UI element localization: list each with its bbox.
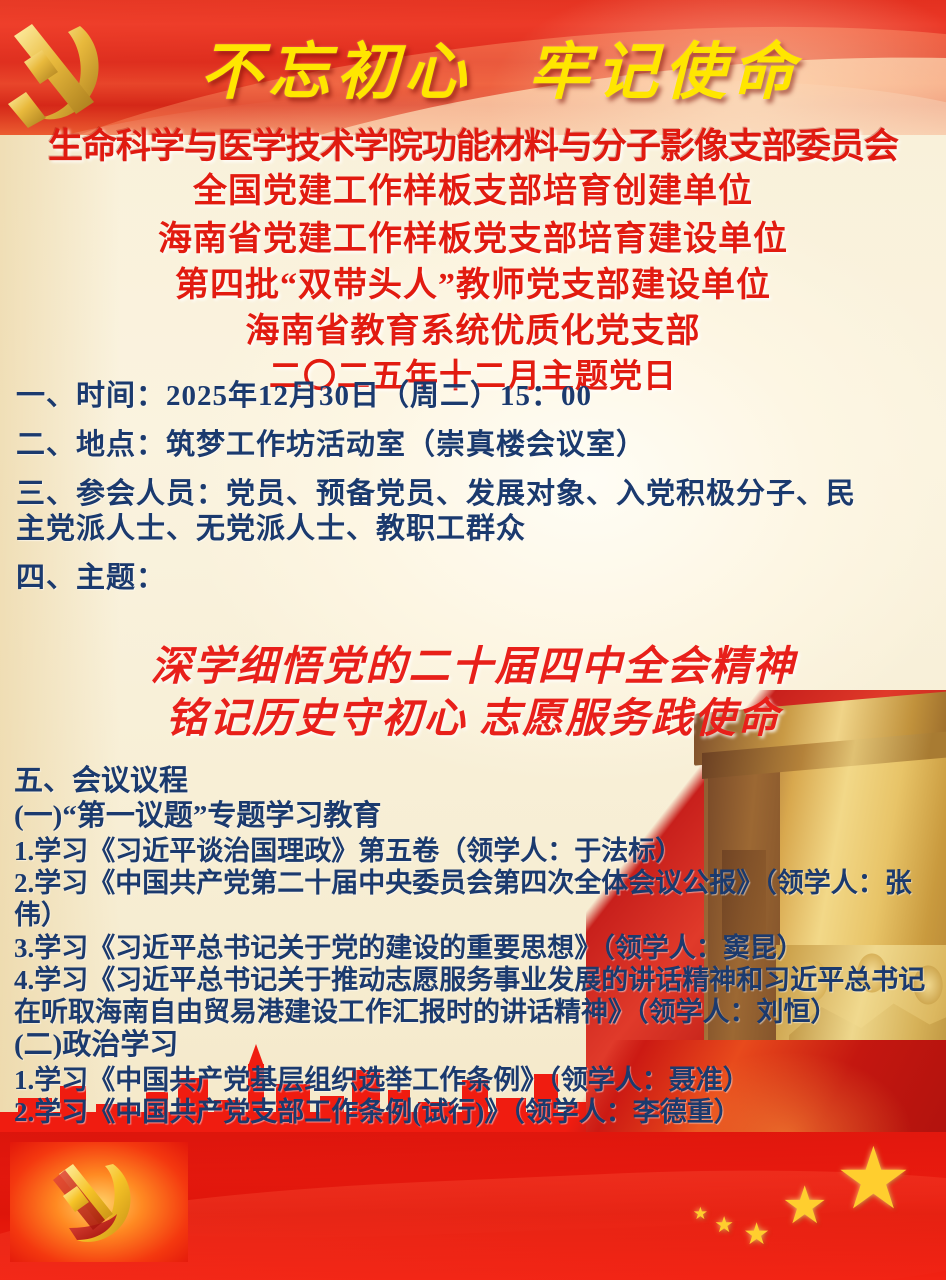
five-stars-icon: ★ ★ ★ ★ ★ (590, 1142, 920, 1252)
party-emblem-icon (39, 1152, 159, 1252)
party-emblem-icon (2, 18, 122, 130)
header-banner: 不忘初心 牢记使命 (0, 0, 946, 135)
star-medium: ★ (781, 1180, 828, 1232)
agenda-item: 1.学习《中国共产党基层组织选举工作条例》（领学人：聂准） (14, 1065, 940, 1095)
agenda-item: 2.学习《中国共产党支部工作条例(试行)》（领学人：李德重） (14, 1097, 940, 1127)
detail-time: 一、时间：2025年12月30日（周二）15：00 (16, 382, 934, 411)
detail-place: 二、地点：筑梦工作坊活动室（崇真楼会议室） (16, 431, 934, 460)
honor-line-1: 全国党建工作样板支部培育创建单位 (0, 163, 946, 212)
agenda-heading: 五、会议议程 (14, 765, 940, 797)
poster-page: 不忘初心 牢记使命 生命科学与医学技术学院功能材料与分子影像支部委员会 全国党建… (0, 0, 946, 1280)
meeting-theme: 深学细悟党的二十届四中全会精神 铭记历史守初心 志愿服务践使命 (0, 640, 946, 745)
agenda-item: 3.学习《习近平总书记关于党的建设的重要思想》（领学人：窦昆） (14, 933, 940, 963)
agenda-item: 4.学习《习近平总书记关于推动志愿服务事业发展的讲话精神和习近平总书记 (14, 965, 940, 995)
agenda-section-one-title: (一)“第一议题”专题学习教育 (14, 800, 940, 832)
theme-line-1: 深学细悟党的二十届四中全会精神 (0, 640, 946, 692)
star-small-1: ★ (743, 1220, 770, 1250)
star-small-3: ★ (693, 1205, 708, 1222)
agenda-section-two-title: (二)政治学习 (14, 1029, 940, 1061)
agenda-item: 1.学习《习近平谈治国理政》第五卷（领学人：于法标） (14, 836, 940, 866)
detail-attendees-1: 三、参会人员：党员、预备党员、发展对象、入党积极分子、民 (16, 480, 934, 509)
honor-line-4: 海南省教育系统优质化党支部 (0, 303, 946, 352)
star-small-2: ★ (714, 1214, 734, 1236)
agenda-item: 伟） (14, 900, 940, 930)
banner-slogan: 不忘初心 牢记使命 (120, 20, 880, 112)
honor-line-3: 第四批“双带头人”教师党支部建设单位 (0, 257, 946, 306)
slogan-right-text: 牢记使命 (528, 21, 800, 111)
agenda-item: 2.学习《中国共产党第二十届中央委员会第四次全体会议公报》（领学人：张 (14, 868, 940, 898)
footer-emblem-badge (10, 1142, 188, 1262)
honor-line-2: 海南省党建工作样板党支部培育建设单位 (0, 211, 946, 260)
star-large: ★ (835, 1136, 912, 1222)
detail-topic-label: 四、主题： (16, 564, 934, 593)
meeting-agenda: 五、会议议程 (一)“第一议题”专题学习教育 1.学习《习近平谈治国理政》第五卷… (14, 765, 940, 1129)
slogan-left-text: 不忘初心 (200, 21, 472, 111)
organization-name: 生命科学与医学技术学院功能材料与分子影像支部委员会 (0, 118, 946, 169)
detail-attendees-2: 主党派人士、无党派人士、教职工群众 (16, 515, 934, 544)
theme-line-2: 铭记历史守初心 志愿服务践使命 (0, 692, 946, 744)
meeting-details: 一、时间：2025年12月30日（周二）15：00 二、地点：筑梦工作坊活动室（… (16, 382, 934, 599)
agenda-item: 在听取海南自由贸易港建设工作汇报时的讲话精神》（领学人：刘恒） (14, 997, 940, 1027)
